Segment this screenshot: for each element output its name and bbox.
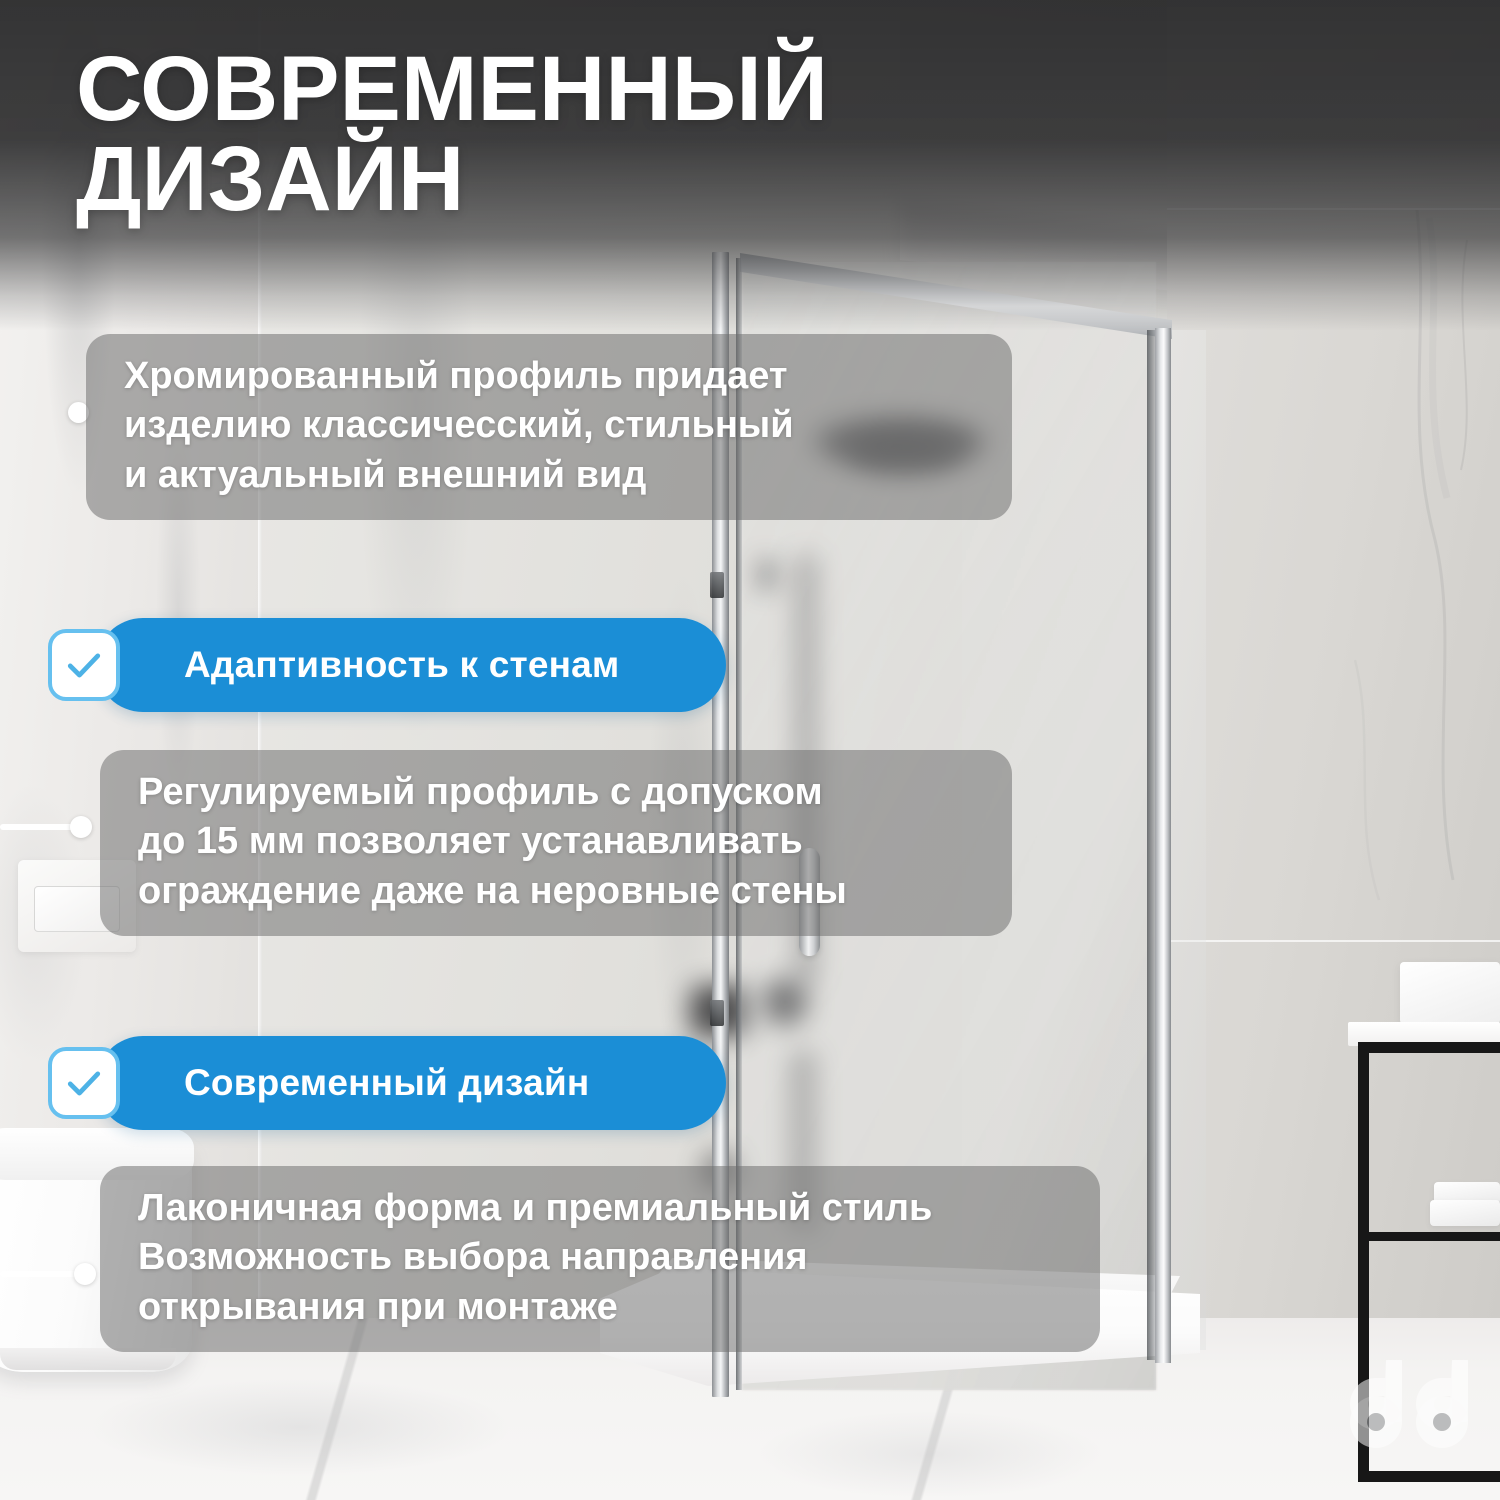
feature-text-chrome-profile: Хромированный профиль придает изделию кл… (86, 334, 1012, 520)
checkbox-checked-icon (48, 1047, 120, 1119)
connector-dot (74, 1263, 96, 1285)
connector-line (0, 824, 78, 830)
connector-line-wall-adaptivity (0, 816, 92, 838)
feature-text-modern-design: Лаконичная форма и премиальный стиль Воз… (100, 1166, 1100, 1352)
badge-label: Адаптивность к стенам (96, 644, 668, 686)
connector-line-modern-design (0, 1263, 100, 1285)
shelf-divider (1358, 1232, 1500, 1241)
page-title: СОВРЕМЕННЫЙ ДИЗАЙН (76, 44, 1076, 224)
feature-text-wall-adaptivity: Регулируемый профиль с допуском до 15 мм… (100, 750, 1012, 936)
dd-logo-watermark (1340, 1352, 1492, 1470)
connector-line (0, 1271, 82, 1277)
badge-label: Современный дизайн (96, 1062, 637, 1104)
chrome-profile-right (1155, 328, 1171, 1363)
door-hinge (710, 572, 724, 598)
storage-box (1400, 962, 1500, 1024)
connector-dot (70, 816, 92, 838)
folded-towel (1430, 1200, 1500, 1226)
badge-wall-adaptivity[interactable]: Адаптивность к стенам (96, 618, 726, 712)
door-hinge (710, 1000, 724, 1026)
tile-joint (1167, 940, 1500, 942)
infographic-canvas: СОВРЕМЕННЫЙ ДИЗАЙН Хромированный профиль… (0, 0, 1500, 1500)
shower-glass-side-panel (1166, 330, 1206, 1350)
checkbox-checked-icon (48, 629, 120, 701)
badge-modern-design[interactable]: Современный дизайн (96, 1036, 726, 1130)
